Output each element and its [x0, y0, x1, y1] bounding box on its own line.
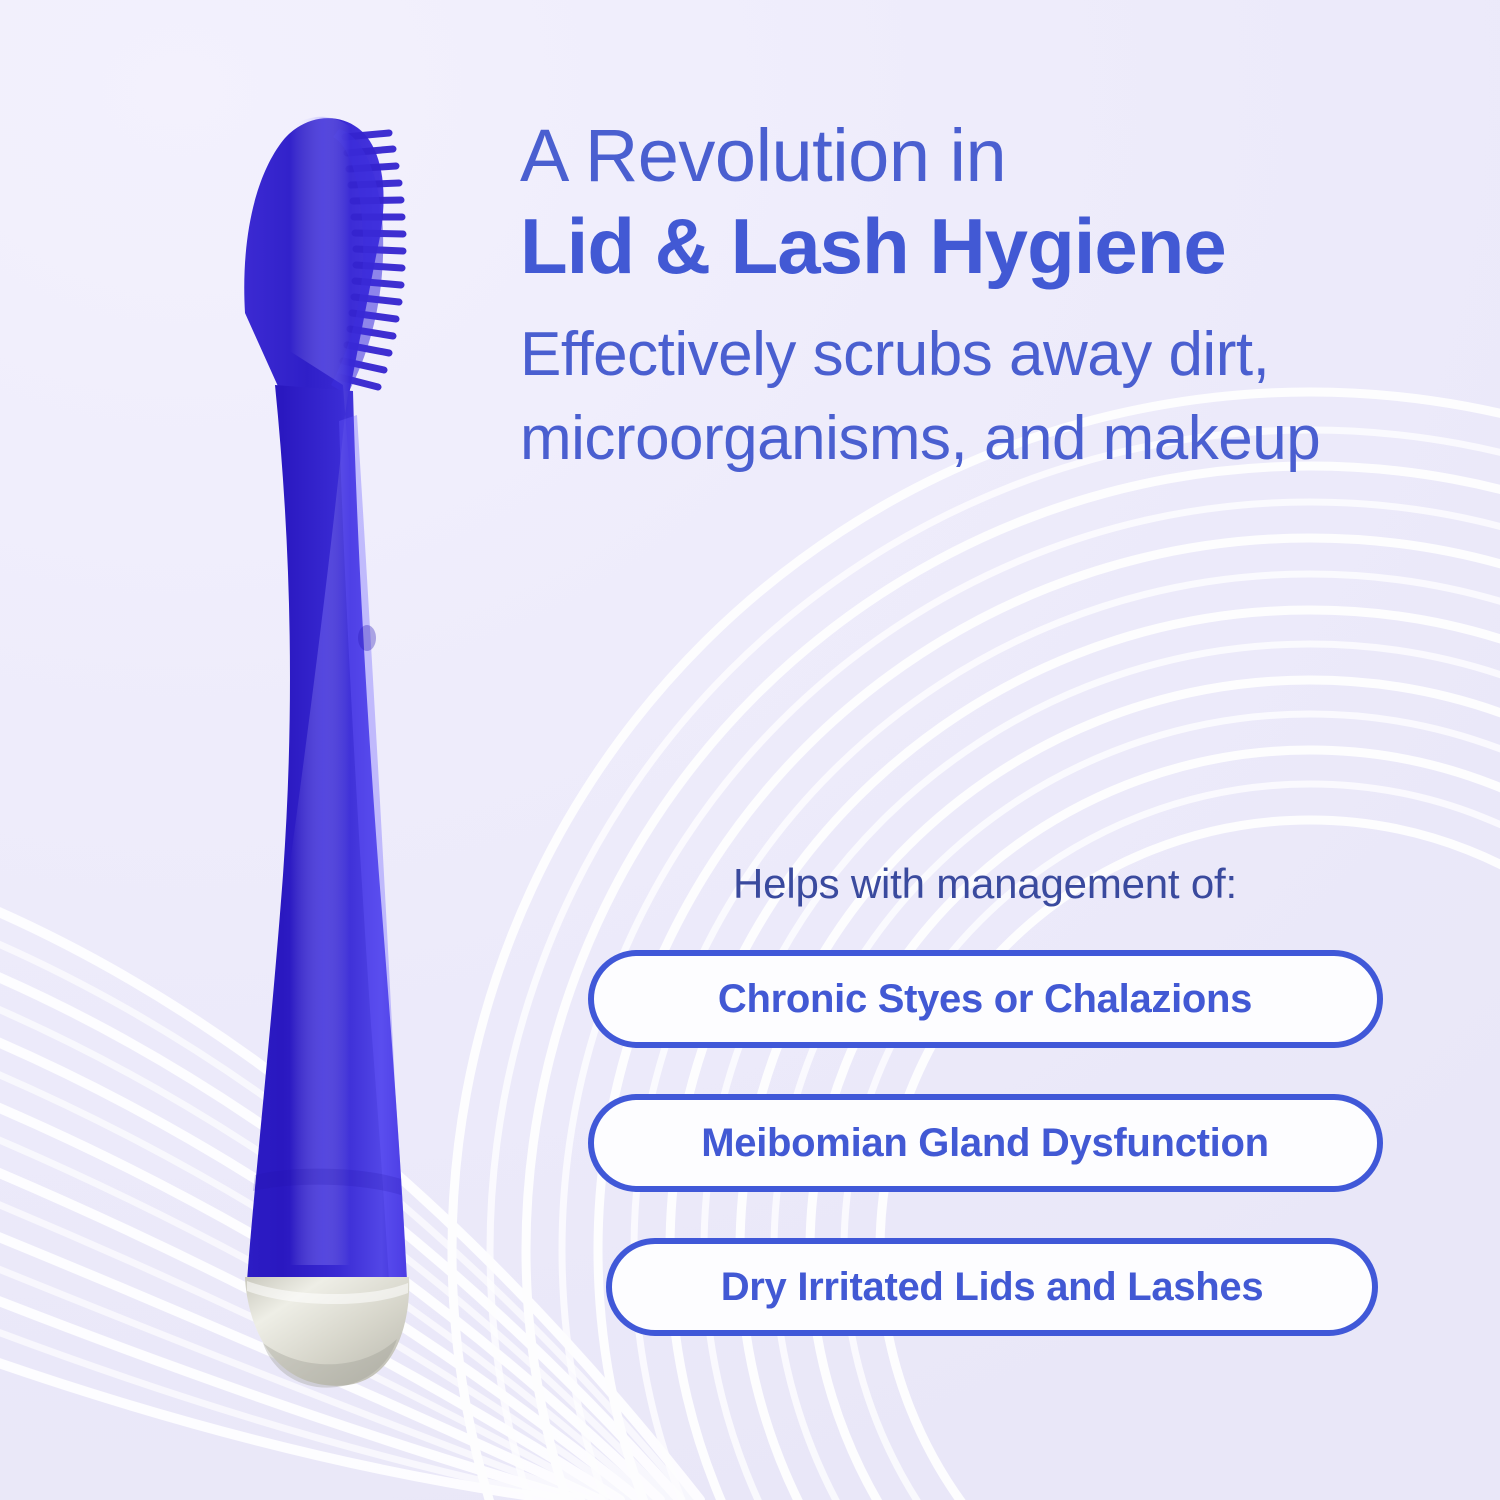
- subheading-text: Effectively scrubs away dirt, microorgan…: [520, 313, 1400, 480]
- condition-pill-label: Dry Irritated Lids and Lashes: [721, 1265, 1264, 1310]
- condition-pill-dry-irritated-lids[interactable]: Dry Irritated Lids and Lashes: [606, 1238, 1378, 1336]
- promo-canvas: A Revolution in Lid & Lash Hygiene Effec…: [0, 0, 1500, 1500]
- helps-with-block: Helps with management of: Chronic Styes …: [585, 860, 1385, 1336]
- condition-pill-list: Chronic Styes or Chalazions Meibomian Gl…: [585, 950, 1385, 1336]
- condition-pill-label: Chronic Styes or Chalazions: [718, 977, 1252, 1022]
- headline-line-one: A Revolution in: [520, 118, 1440, 193]
- brush-handle: [247, 85, 407, 1455]
- condition-pill-chronic-styes[interactable]: Chronic Styes or Chalazions: [588, 950, 1383, 1048]
- condition-pill-meibomian-gland-dysfunction[interactable]: Meibomian Gland Dysfunction: [588, 1094, 1383, 1192]
- headline-block: A Revolution in Lid & Lash Hygiene Effec…: [520, 118, 1440, 480]
- brush-base-cap: [245, 1277, 409, 1388]
- headline-line-two: Lid & Lash Hygiene: [520, 207, 1440, 287]
- product-image-cleansing-brush: [95, 85, 515, 1455]
- brush-head: [244, 118, 403, 405]
- condition-pill-label: Meibomian Gland Dysfunction: [701, 1121, 1269, 1166]
- helps-with-label: Helps with management of:: [585, 860, 1385, 908]
